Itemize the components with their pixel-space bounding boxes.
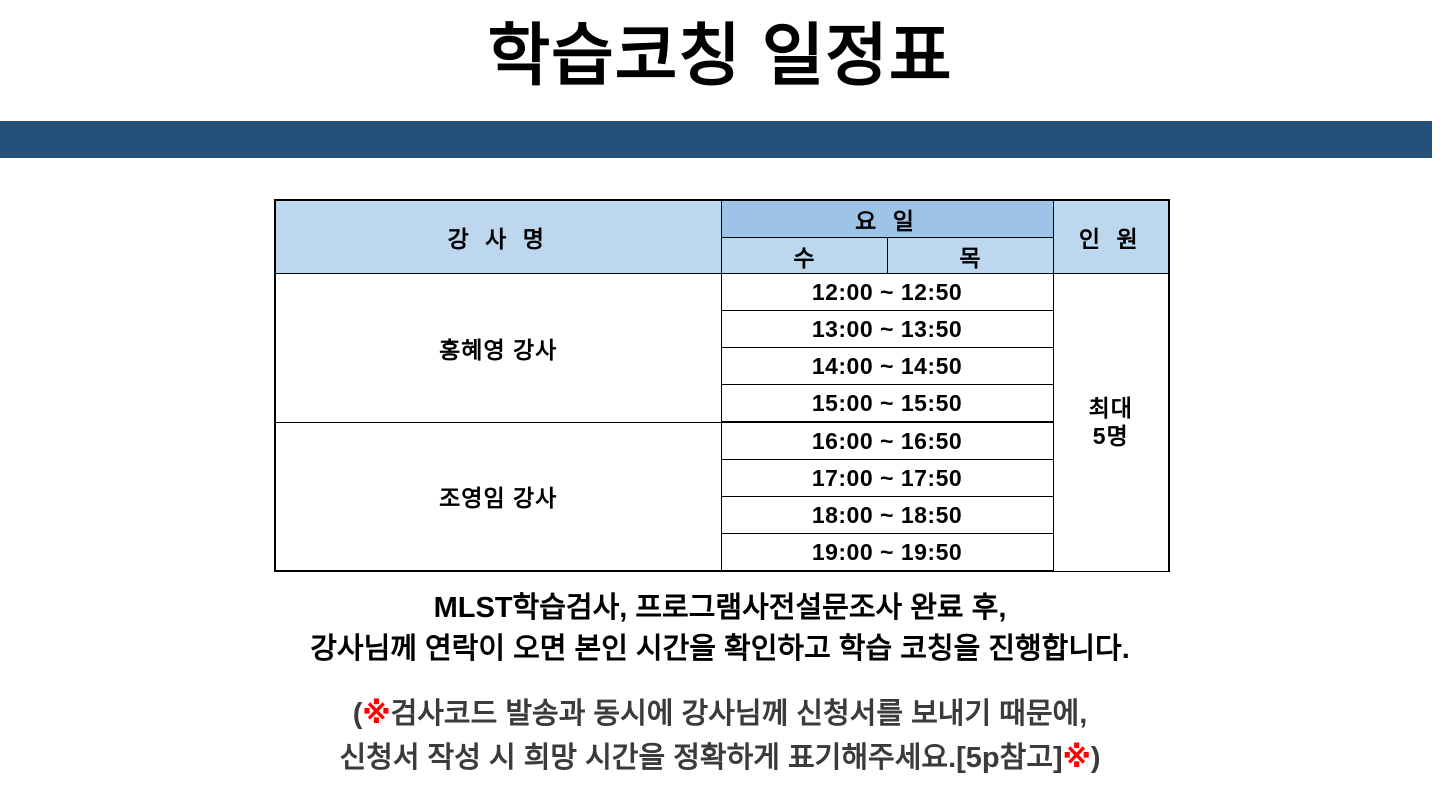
time-slot-cell: 18:00 ~ 18:50 xyxy=(721,497,1053,534)
reference-mark-icon: ※ xyxy=(362,698,390,730)
table-row: 조영임 강사 16:00 ~ 16:50 xyxy=(275,422,1169,460)
time-slot-cell: 19:00 ~ 19:50 xyxy=(721,534,1053,572)
time-slot-cell: 12:00 ~ 12:50 xyxy=(721,274,1053,311)
time-slot-cell: 13:00 ~ 13:50 xyxy=(721,311,1053,348)
note-primary: MLST학습검사, 프로그램사전설문조사 완료 후, 강사님께 연락이 오면 본… xyxy=(0,588,1440,670)
table-row: 홍혜영 강사 12:00 ~ 12:50 최대5명 xyxy=(275,274,1169,311)
note-secondary-line-1: (※검사코드 발송과 동시에 강사님께 신청서를 보내기 때문에, xyxy=(0,693,1440,737)
capacity-cell: 최대5명 xyxy=(1053,274,1169,572)
capacity-line-1: 최대 xyxy=(1089,395,1133,421)
header-capacity: 인 원 xyxy=(1053,200,1169,274)
title-banner-bar xyxy=(0,121,1432,158)
time-slot-cell: 17:00 ~ 17:50 xyxy=(721,460,1053,497)
time-slot-cell: 16:00 ~ 16:50 xyxy=(721,422,1053,460)
note-primary-line-1: MLST학습검사, 프로그램사전설문조사 완료 후, xyxy=(0,588,1440,629)
note-secondary-text-1: 검사코드 발송과 동시에 강사님께 신청서를 보내기 때문에, xyxy=(391,698,1088,730)
note-primary-line-2: 강사님께 연락이 오면 본인 시간을 확인하고 학습 코칭을 진행합니다. xyxy=(0,629,1440,670)
header-day: 요 일 xyxy=(721,200,1053,238)
header-instructor-name: 강 사 명 xyxy=(275,200,721,274)
close-paren: ) xyxy=(1091,742,1101,774)
instructor-name-cell: 조영임 강사 xyxy=(275,422,721,571)
open-paren: ( xyxy=(353,698,363,730)
table-header-row-1: 강 사 명 요 일 인 원 xyxy=(275,200,1169,238)
header-day-wednesday: 수 xyxy=(721,238,887,274)
reference-mark-icon: ※ xyxy=(1063,742,1091,774)
page-title: 학습코칭 일정표 xyxy=(0,14,1440,99)
header-day-thursday: 목 xyxy=(887,238,1053,274)
note-secondary: (※검사코드 발송과 동시에 강사님께 신청서를 보내기 때문에, 신청서 작성… xyxy=(0,693,1440,780)
note-secondary-line-2: 신청서 작성 시 희망 시간을 정확하게 표기해주세요.[5p참고]※) xyxy=(0,737,1440,781)
instructor-name-cell: 홍혜영 강사 xyxy=(275,274,721,423)
time-slot-cell: 14:00 ~ 14:50 xyxy=(721,348,1053,385)
note-secondary-text-2: 신청서 작성 시 희망 시간을 정확하게 표기해주세요.[5p참고] xyxy=(339,742,1062,774)
time-slot-cell: 15:00 ~ 15:50 xyxy=(721,385,1053,423)
schedule-table: 강 사 명 요 일 인 원 수 목 홍혜영 강사 12:00 ~ 12:50 최… xyxy=(274,199,1170,572)
capacity-line-2: 5명 xyxy=(1093,423,1129,449)
